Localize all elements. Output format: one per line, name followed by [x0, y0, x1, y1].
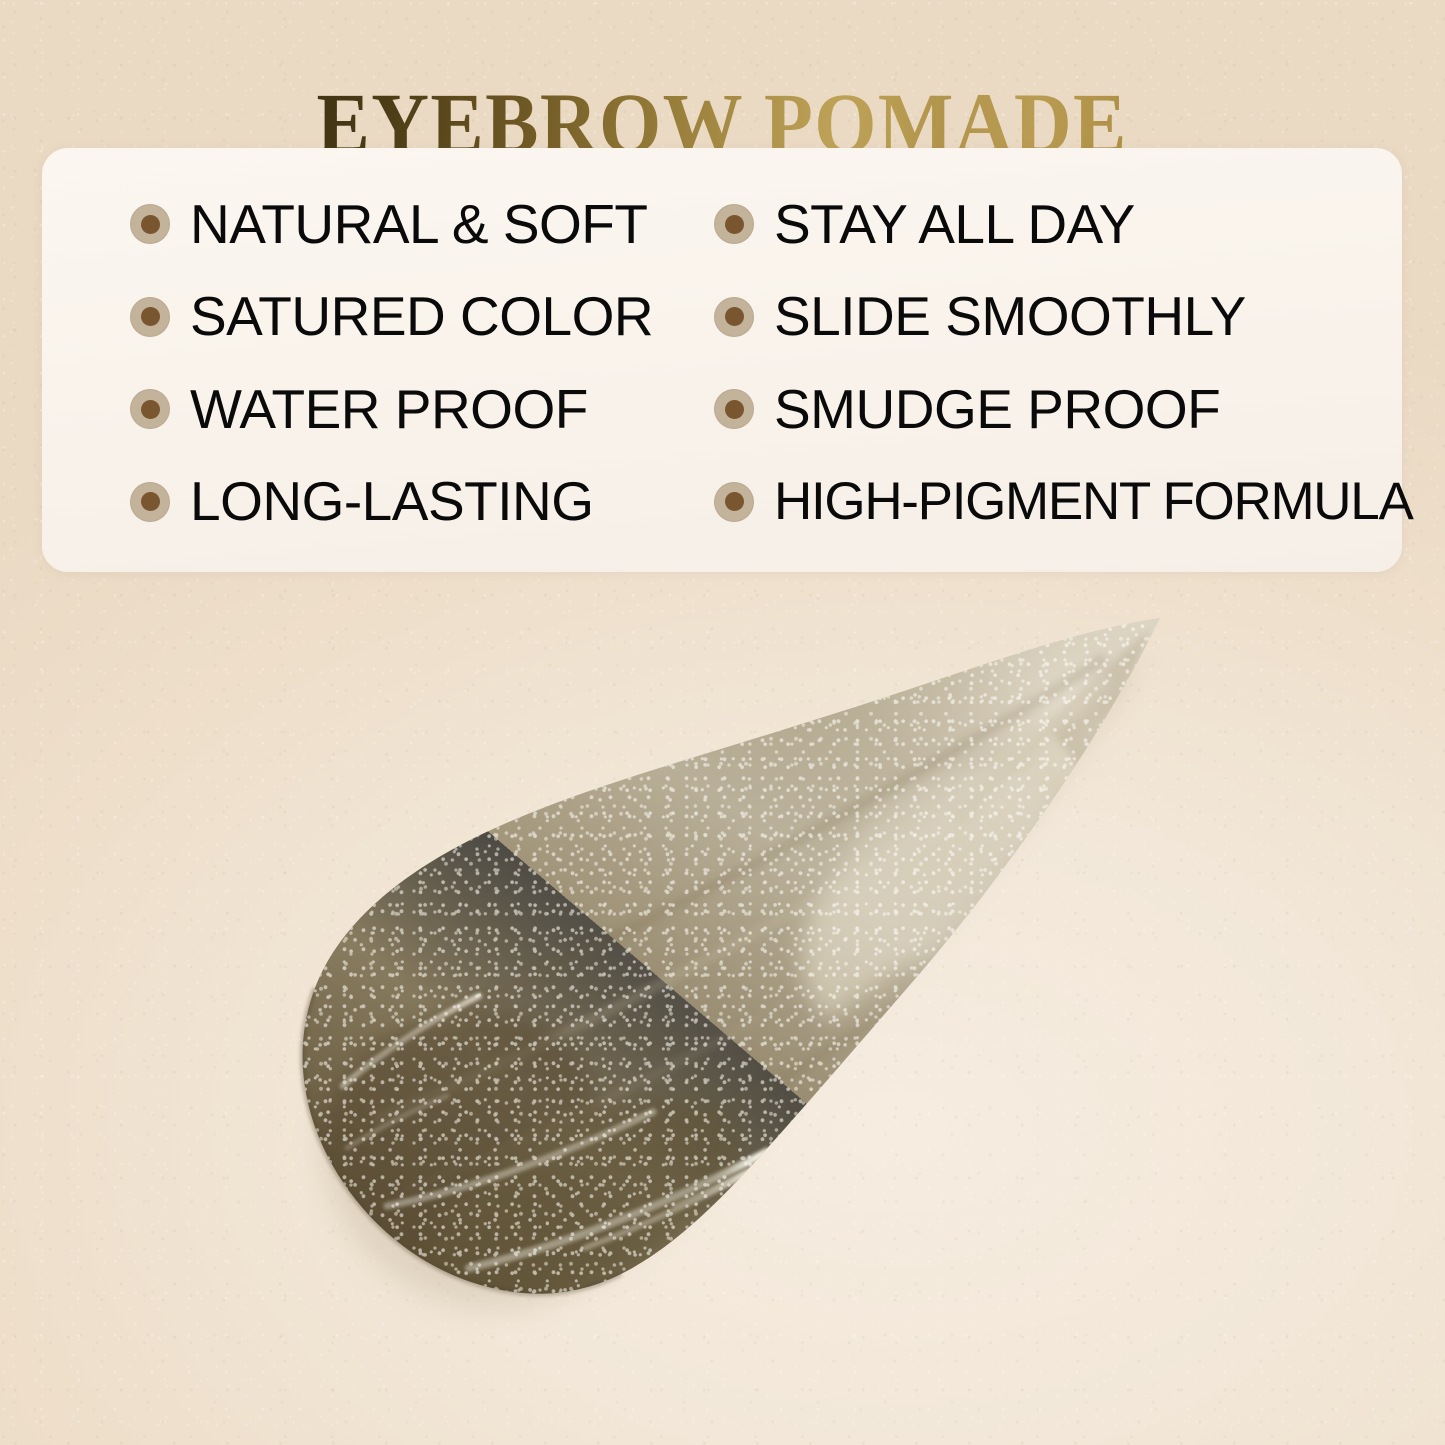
feature-label: LONG-LASTING	[190, 474, 594, 529]
feature-label: STAY ALL DAY	[774, 197, 1135, 252]
bullet-dot-icon	[714, 482, 754, 522]
feature-label: WATER PROOF	[190, 382, 588, 437]
bullet-dot-icon	[130, 204, 170, 244]
bullet-dot-icon	[130, 389, 170, 429]
bullet-dot-icon	[714, 389, 754, 429]
feature-label: NATURAL & SOFT	[190, 197, 648, 252]
feature-item-slide-smoothly: SLIDE SMOOTHLY	[702, 271, 1402, 364]
feature-item-high-pigment-formula: HIGH-PIGMENT FORMULA	[702, 456, 1402, 549]
eyebrow-pomade-smear-swatch	[255, 600, 1215, 1420]
bullet-dot-icon	[714, 297, 754, 337]
feature-grid: NATURAL & SOFT STAY ALL DAY SATURED COLO…	[42, 148, 1402, 572]
feature-label: SMUDGE PROOF	[774, 382, 1220, 437]
feature-item-water-proof: WATER PROOF	[42, 363, 702, 456]
feature-label: SATURED COLOR	[190, 289, 653, 344]
feature-item-satured-color: SATURED COLOR	[42, 271, 702, 364]
bullet-dot-icon	[714, 204, 754, 244]
bullet-dot-icon	[130, 297, 170, 337]
product-swatch-area	[0, 560, 1445, 1445]
bullet-dot-icon	[130, 482, 170, 522]
feature-item-smudge-proof: SMUDGE PROOF	[702, 363, 1402, 456]
feature-item-stay-all-day: STAY ALL DAY	[702, 178, 1402, 271]
feature-item-long-lasting: LONG-LASTING	[42, 456, 702, 549]
feature-list-card: NATURAL & SOFT STAY ALL DAY SATURED COLO…	[42, 148, 1402, 572]
product-infographic: EYEBROW POMADE NATURAL & SOFT STAY ALL D…	[0, 0, 1445, 1445]
feature-label: HIGH-PIGMENT FORMULA	[774, 475, 1413, 528]
feature-item-natural-soft: NATURAL & SOFT	[42, 178, 702, 271]
swatch-body	[255, 600, 1215, 1420]
feature-label: SLIDE SMOOTHLY	[774, 289, 1246, 344]
